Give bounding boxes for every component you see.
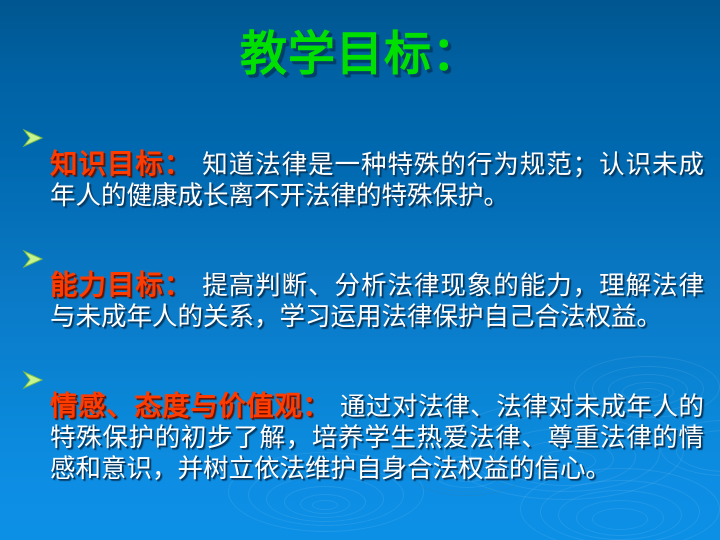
- slide-title: 教学目标：: [240, 30, 480, 81]
- list-item: 能力目标：提高判断、分析法律现象的能力，理解法律与未成年人的关系，学习运用法律保…: [22, 243, 704, 358]
- arrowhead-right-icon: [22, 364, 50, 390]
- list-item-text: 能力目标：提高判断、分析法律现象的能力，理解法律与未成年人的关系，学习运用法律保…: [50, 269, 704, 333]
- list-item-text: 情感、态度与价值观：通过对法律、法律对未成年人的特殊保护的初步了解，培养学生热爱…: [50, 390, 704, 485]
- arrowhead-right-icon: [22, 243, 50, 269]
- slide-title-container: 教学目标：: [0, 30, 720, 81]
- list-item-lead: 情感、态度与价值观：: [50, 390, 330, 422]
- list-item-lead: 能力目标：: [50, 269, 192, 301]
- presentation-slide: 教学目标： 知识目标：知道法律是一种特殊的行为规范；认识未成年人的健康成长离不开…: [0, 0, 720, 540]
- bullet-list: 知识目标：知道法律是一种特殊的行为规范；认识未成年人的健康成长离不开法律的特殊保…: [22, 122, 704, 516]
- list-item: 情感、态度与价值观：通过对法律、法律对未成年人的特殊保护的初步了解，培养学生热爱…: [22, 364, 704, 510]
- arrowhead-right-icon: [22, 122, 50, 148]
- list-item-text: 知识目标：知道法律是一种特殊的行为规范；认识未成年人的健康成长离不开法律的特殊保…: [50, 148, 704, 212]
- list-item: 知识目标：知道法律是一种特殊的行为规范；认识未成年人的健康成长离不开法律的特殊保…: [22, 122, 704, 237]
- list-item-lead: 知识目标：: [50, 148, 192, 180]
